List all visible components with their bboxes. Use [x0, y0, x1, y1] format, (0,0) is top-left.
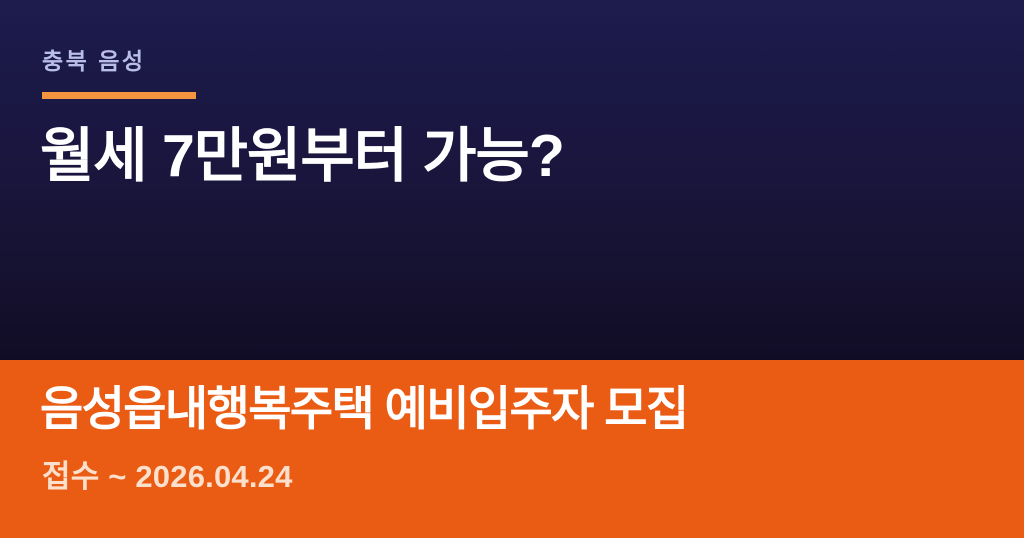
- promo-poster: 충북 음성 월세 7만원부터 가능? 음성읍내행복주택 예비입주자 모집 접수 …: [0, 0, 1024, 538]
- hero-section: 충북 음성 월세 7만원부터 가능?: [0, 0, 1024, 360]
- application-deadline: 접수 ~ 2026.04.24: [42, 458, 293, 495]
- hero-headline: 월세 7만원부터 가능?: [40, 122, 564, 192]
- accent-underline-rule: [42, 92, 196, 99]
- announcement-band: 음성읍내행복주택 예비입주자 모집 접수 ~ 2026.04.24: [0, 360, 1024, 538]
- region-eyebrow-label: 충북 음성: [42, 50, 146, 73]
- announcement-title: 음성읍내행복주택 예비입주자 모집: [40, 382, 688, 436]
